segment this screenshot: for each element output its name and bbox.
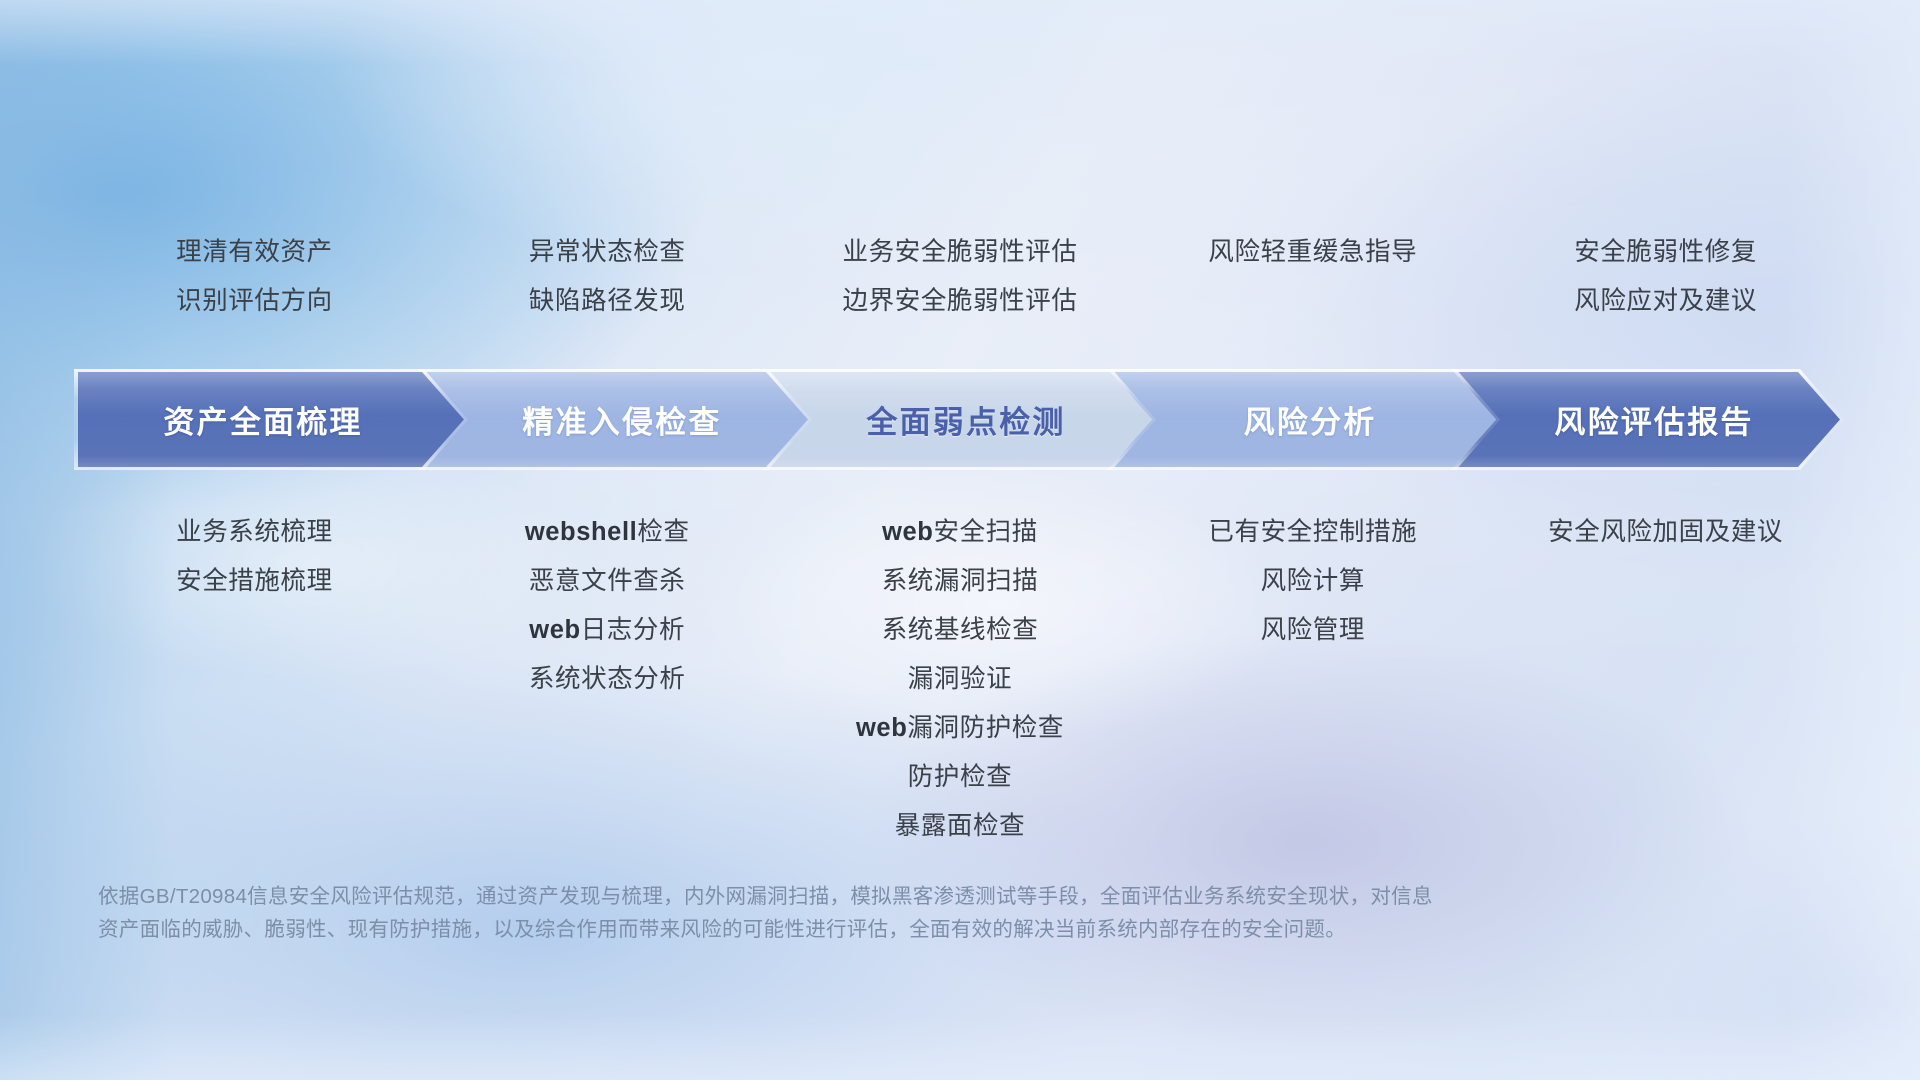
diagram-content: 理清有效资产识别评估方向异常状态检查缺陷路径发现业务安全脆弱性评估边界安全脆弱性… bbox=[0, 0, 1920, 1080]
stage-item: 系统状态分析 bbox=[529, 655, 686, 704]
stage-activities-row: 业务系统梳理安全措施梳理webshell检查恶意文件查杀web日志分析系统状态分… bbox=[78, 508, 1842, 851]
stage-item: 业务安全脆弱性评估 bbox=[843, 228, 1078, 277]
stage-item: 已有安全控制措施 bbox=[1208, 508, 1417, 557]
slide-canvas: 理清有效资产识别评估方向异常状态检查缺陷路径发现业务安全脆弱性评估边界安全脆弱性… bbox=[0, 0, 1920, 1080]
stage-item-emphasis: web bbox=[856, 714, 907, 742]
stage-item: 安全脆弱性修复 bbox=[1574, 228, 1757, 277]
chevron-label: 风险评估报告 bbox=[1540, 397, 1753, 442]
stage-inputs-weakness-detection: 业务安全脆弱性评估边界安全脆弱性评估 bbox=[784, 228, 1137, 326]
stage-item: 边界安全脆弱性评估 bbox=[843, 277, 1078, 326]
stage-item: 安全风险加固及建议 bbox=[1548, 508, 1783, 557]
stage-item: 恶意文件查杀 bbox=[529, 557, 686, 606]
stage-item: 识别评估方向 bbox=[176, 277, 333, 326]
stage-item: 风险轻重缓急指导 bbox=[1208, 228, 1417, 277]
stage-item-emphasis: webshell bbox=[525, 518, 638, 546]
chevron-risk-analysis[interactable]: 风险分析 bbox=[1110, 372, 1496, 467]
stage-activities-risk-report: 安全风险加固及建议 bbox=[1489, 508, 1842, 851]
stage-inputs-risk-report: 安全脆弱性修复风险应对及建议 bbox=[1489, 228, 1842, 326]
stage-item: 缺陷路径发现 bbox=[529, 277, 686, 326]
chevron-label: 资产全面梳理 bbox=[163, 397, 378, 442]
stage-item: 风险计算 bbox=[1261, 557, 1365, 606]
chevron-label: 全面弱点检测 bbox=[852, 397, 1065, 442]
stage-item-emphasis: web bbox=[529, 616, 580, 644]
footer-line: 依据GB/T20984信息安全风险评估规范，通过资产发现与梳理，内外网漏洞扫描，… bbox=[98, 880, 1658, 913]
stage-item: 理清有效资产 bbox=[176, 228, 333, 277]
chevron-asset-inventory[interactable]: 资产全面梳理 bbox=[78, 372, 464, 467]
footer-description: 依据GB/T20984信息安全风险评估规范，通过资产发现与梳理，内外网漏洞扫描，… bbox=[98, 880, 1658, 946]
stage-item: webshell检查 bbox=[525, 508, 690, 557]
chevron-risk-report[interactable]: 风险评估报告 bbox=[1454, 372, 1840, 467]
stage-activities-risk-analysis: 已有安全控制措施风险计算风险管理 bbox=[1136, 508, 1489, 851]
stage-activities-weakness-detection: web安全扫描系统漏洞扫描系统基线检查漏洞验证web漏洞防护检查防护检查暴露面检… bbox=[784, 508, 1137, 851]
stage-item: 漏洞验证 bbox=[908, 655, 1012, 704]
stage-item: 异常状态检查 bbox=[529, 228, 686, 277]
stage-item: 暴露面检查 bbox=[895, 802, 1026, 851]
process-chevron-band: 资产全面梳理精准入侵检查全面弱点检测风险分析风险评估报告 bbox=[78, 372, 1840, 467]
stage-activities-intrusion-check: webshell检查恶意文件查杀web日志分析系统状态分析 bbox=[431, 508, 784, 851]
footer-line: 资产面临的威胁、脆弱性、现有防护措施，以及综合作用而带来风险的可能性进行评估，全… bbox=[98, 913, 1658, 946]
stage-item: 防护检查 bbox=[908, 753, 1012, 802]
chevron-weakness-detection[interactable]: 全面弱点检测 bbox=[766, 372, 1152, 467]
stage-item: 风险应对及建议 bbox=[1574, 277, 1757, 326]
stage-item: web日志分析 bbox=[529, 606, 685, 655]
stage-item: web漏洞防护检查 bbox=[856, 704, 1064, 753]
stage-inputs-asset-inventory: 理清有效资产识别评估方向 bbox=[78, 228, 431, 326]
chevron-intrusion-check[interactable]: 精准入侵检查 bbox=[422, 372, 808, 467]
stage-item: 安全措施梳理 bbox=[176, 557, 333, 606]
stage-item: 业务系统梳理 bbox=[176, 508, 333, 557]
stage-inputs-row: 理清有效资产识别评估方向异常状态检查缺陷路径发现业务安全脆弱性评估边界安全脆弱性… bbox=[78, 228, 1842, 326]
stage-inputs-risk-analysis: 风险轻重缓急指导 bbox=[1136, 228, 1489, 326]
stage-inputs-intrusion-check: 异常状态检查缺陷路径发现 bbox=[431, 228, 784, 326]
stage-item: web安全扫描 bbox=[882, 508, 1038, 557]
stage-activities-asset-inventory: 业务系统梳理安全措施梳理 bbox=[78, 508, 431, 851]
chevron-label: 精准入侵检查 bbox=[508, 397, 721, 442]
stage-item-emphasis: web bbox=[882, 518, 933, 546]
chevron-label: 风险分析 bbox=[1230, 397, 1377, 442]
stage-item: 系统漏洞扫描 bbox=[882, 557, 1039, 606]
stage-item: 系统基线检查 bbox=[882, 606, 1039, 655]
stage-item: 风险管理 bbox=[1261, 606, 1365, 655]
